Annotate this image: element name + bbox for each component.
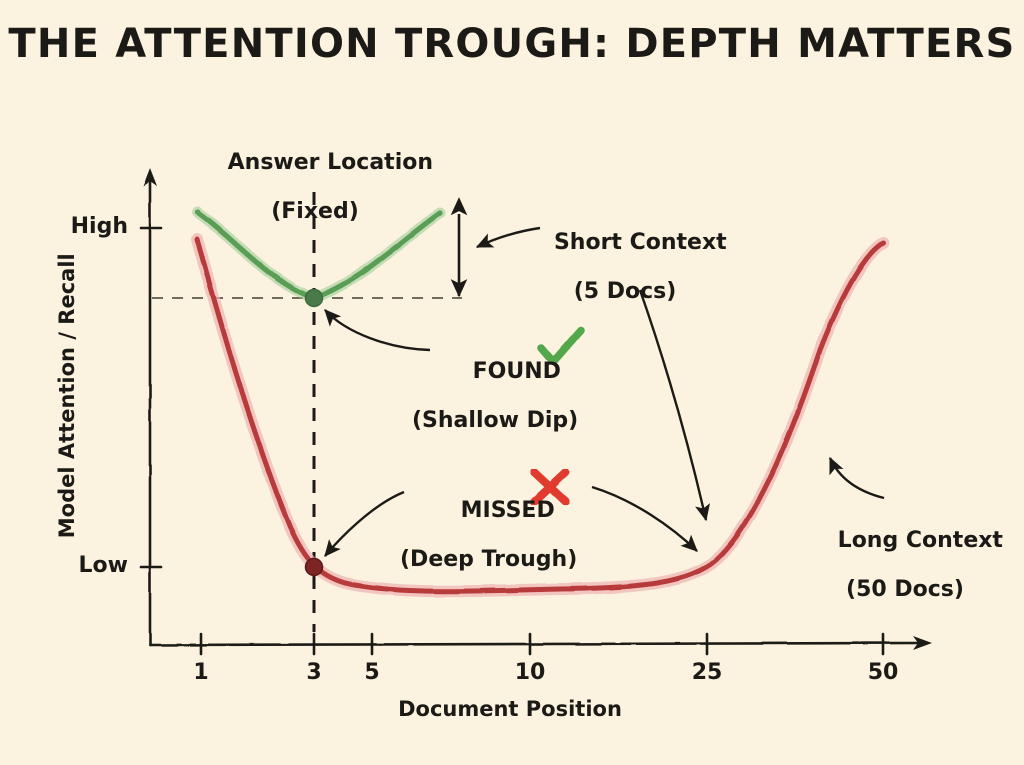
x-tick-label-50: 50 <box>853 661 913 686</box>
long-context-line2: (50 Docs) <box>790 578 1020 603</box>
found-data-point <box>306 290 323 307</box>
x-tick-label-1: 1 <box>171 661 231 686</box>
missed-label: MISSED <box>461 498 555 523</box>
x-tick-label-10: 10 <box>500 661 560 686</box>
annotation-long-context: Long Context (50 Docs) <box>790 504 1020 652</box>
annotation-found: FOUND (Shallow Dip) <box>408 335 638 483</box>
answer-location-line2: (Fixed) <box>170 200 460 225</box>
x-tick-label-25: 25 <box>677 661 737 686</box>
found-sublabel: (Shallow Dip) <box>412 409 638 434</box>
short-context-line1: Short Context <box>554 230 727 255</box>
missed-data-point <box>306 559 323 576</box>
found-label: FOUND <box>473 359 561 384</box>
annotation-missed: MISSED (Deep Trough) <box>400 474 630 622</box>
x-tick-label-3: 3 <box>284 661 344 686</box>
x-tick-label-5: 5 <box>342 661 402 686</box>
y-axis-title: Model Attention / Recall <box>56 236 80 556</box>
long-context-line1: Long Context <box>838 528 1003 553</box>
annotation-answer-location: Answer Location (Fixed) <box>170 126 460 274</box>
missed-sublabel: (Deep Trough) <box>400 548 630 573</box>
x-axis-title: Document Position <box>260 698 760 722</box>
long-context-leader-arrow <box>830 458 884 498</box>
y-tick-label-high: High <box>28 215 128 240</box>
annotation-short-context: Short Context (5 Docs) <box>485 206 765 354</box>
missed-leader-arrow-left <box>325 492 404 556</box>
y-tick-label-low: Low <box>28 554 128 579</box>
short-context-line2: (5 Docs) <box>485 280 765 305</box>
chart-canvas: THE ATTENTION TROUGH: DEPTH MATTERS <box>0 0 1024 765</box>
answer-location-line1: Answer Location <box>228 150 433 175</box>
